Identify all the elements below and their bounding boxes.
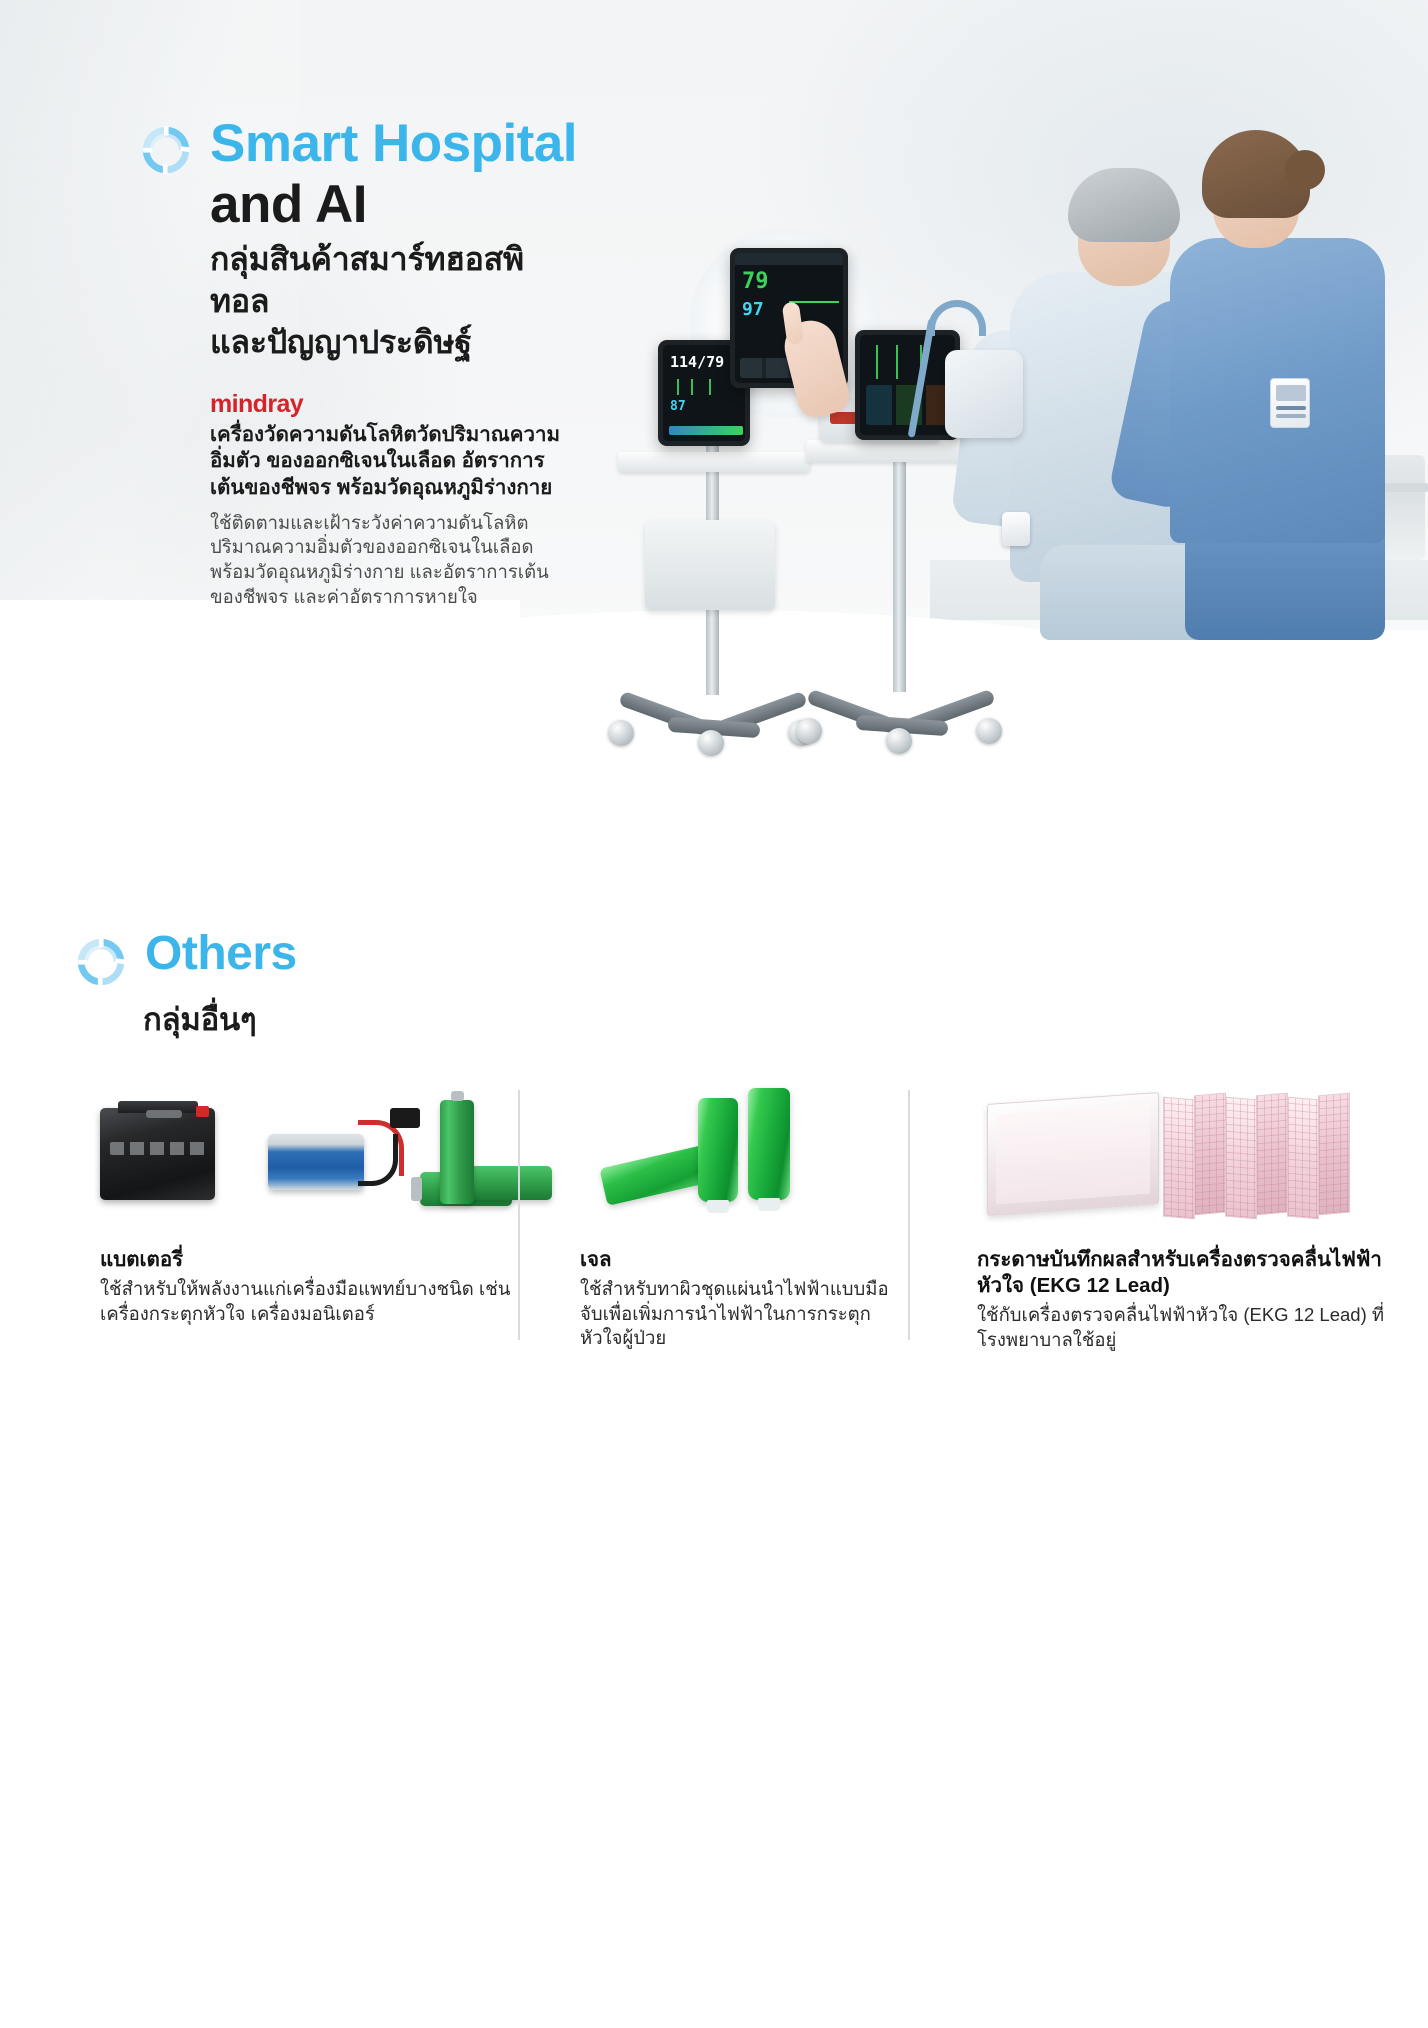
others-heading-row: Others	[75, 930, 1428, 988]
card-body: ใช้สำหรับทาผิวชุดแผ่นนำไฟฟ้าแบบมือจับเพื…	[580, 1277, 910, 1351]
monitor-top-hr-value: 79	[742, 269, 769, 294]
card-body: ใช้กับเครื่องตรวจคลื่นไฟฟ้าหัวใจ (EKG 12…	[977, 1303, 1407, 1352]
hero-product-description: ใช้ติดตามและเฝ้าระวังค่าความดันโลหิต ปริ…	[210, 511, 575, 610]
hero-title-main: Smart Hospital	[210, 118, 577, 170]
card-title: แบตเตอรี่	[100, 1247, 520, 1273]
gel-tube-image-2	[748, 1088, 790, 1200]
hero-title-thai-line2: และปัญญาประดิษฐ์	[210, 322, 560, 364]
nurse-id-badge	[1270, 378, 1310, 428]
finger-pulse-oximeter	[1002, 512, 1030, 546]
battery-products-photo	[100, 1090, 520, 1225]
nurse-hair-bun	[1285, 150, 1325, 190]
cylindrical-battery-pack-image	[268, 1134, 364, 1190]
product-card-gel: เจล ใช้สำหรับทาผิวชุดแผ่นนำไฟฟ้าแบบมือจั…	[580, 1090, 910, 1353]
hero-heading-row: Smart Hospital	[140, 118, 560, 176]
battery-connector-plug	[390, 1108, 420, 1128]
monitor-left-sub-value: 87	[670, 399, 686, 414]
others-title-thai: กลุ่มอื่นๆ	[143, 994, 1428, 1044]
cart-a-basket	[645, 520, 775, 610]
card-divider-1	[518, 1090, 520, 1340]
gel-tube-image-1	[698, 1098, 738, 1202]
segmented-ring-icon	[75, 936, 127, 988]
monitor-right-tiles	[866, 385, 950, 425]
blood-pressure-cuff	[945, 350, 1023, 438]
ekg-paper-pad-image	[987, 1092, 1159, 1216]
card-title: เจล	[580, 1247, 910, 1273]
hero-title-thai: กลุ่มสินค้าสมาร์ทฮอสพิทอล และปัญญาประดิษ…	[210, 239, 560, 364]
catalog-page: 114/79 87 79 97	[0, 0, 1428, 2028]
gel-tubes-photo	[580, 1090, 910, 1225]
cart-a-tray	[618, 452, 810, 472]
others-title: Others	[145, 930, 297, 978]
green-cell-image-3	[440, 1100, 474, 1204]
cart-a-base	[612, 690, 817, 752]
ekg-paper-photo	[977, 1090, 1407, 1225]
monitor-top-header-bar	[735, 253, 843, 265]
card-body: ใช้สำหรับให้พลังงานแก่เครื่องมือแพทย์บาง…	[100, 1277, 520, 1326]
lead-acid-battery-image	[100, 1108, 215, 1200]
monitor-left-bp-value: 114/79	[670, 353, 724, 371]
cart-b-base	[800, 688, 1005, 750]
cart-b-pole	[893, 430, 906, 692]
card-divider-2	[908, 1090, 910, 1340]
product-card-list: แบตเตอรี่ ใช้สำหรับให้พลังงานแก่เครื่องม…	[0, 1090, 1428, 1353]
battery-black-wire	[358, 1134, 398, 1186]
monitor-right-waveform	[866, 345, 948, 379]
mindray-brand-logo: mindray	[210, 390, 560, 419]
hero-product-name: เครื่องวัดความดันโลหิตวัดปริมาณความอิ่มต…	[210, 422, 570, 502]
monitor-right-screen	[860, 335, 955, 435]
battery-label	[110, 1142, 205, 1155]
ekg-paper-fanfold-image	[1163, 1092, 1353, 1216]
patient-hair	[1068, 168, 1180, 242]
product-card-ekg-paper: กระดาษบันทึกผลสำหรับเครื่องตรวจคลื่นไฟฟ้…	[977, 1090, 1407, 1353]
monitor-left-bar	[669, 426, 743, 435]
card-title: กระดาษบันทึกผลสำหรับเครื่องตรวจคลื่นไฟฟ้…	[977, 1247, 1407, 1299]
monitor-top-spo2-value: 97	[742, 299, 764, 320]
battery-terminal	[196, 1106, 209, 1117]
product-card-battery: แบตเตอรี่ ใช้สำหรับให้พลังงานแก่เครื่องม…	[100, 1090, 520, 1353]
others-section: Others กลุ่มอื่นๆ	[0, 930, 1428, 1044]
segmented-ring-icon	[140, 124, 192, 176]
hero-text-block: Smart Hospital and AI กลุ่มสินค้าสมาร์ทฮ…	[140, 118, 560, 610]
hero-section: 114/79 87 79 97	[0, 0, 1428, 790]
hero-title-thai-line1: กลุ่มสินค้าสมาร์ทฮอสพิทอล	[210, 239, 560, 322]
hero-title-sub: and AI	[210, 178, 560, 231]
